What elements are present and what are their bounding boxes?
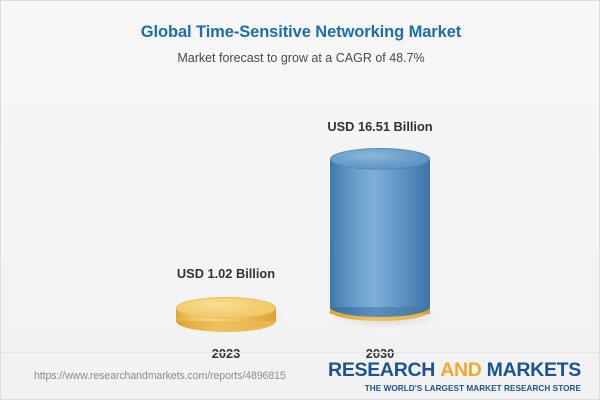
report-url-link[interactable]: https://www.researchandmarkets.com/repor… (34, 370, 286, 382)
logo-tagline: THE WORLD'S LARGEST MARKET RESEARCH STOR… (328, 385, 581, 393)
research-and-markets-logo[interactable]: RESEARCH AND MARKETS THE WORLD'S LARGEST… (328, 361, 581, 393)
logo-word-and: AND (440, 359, 481, 381)
chart-footer: https://www.researchandmarkets.com/repor… (1, 352, 600, 399)
cylinder-top-ellipse-2023 (176, 297, 276, 319)
logo-word-markets: MARKETS (487, 359, 581, 381)
cylinder-top-ellipse-2030 (330, 148, 430, 170)
cylinder-blue-body-2030 (330, 160, 430, 307)
chart-subtitle: Market forecast to grow at a CAGR of 48.… (1, 42, 600, 65)
chart-header: Global Time-Sensitive Networking Market … (1, 1, 600, 65)
page-title: Global Time-Sensitive Networking Market (1, 1, 600, 42)
chart-card: Global Time-Sensitive Networking Market … (0, 0, 600, 400)
bar-cylinder-2023[interactable] (176, 297, 276, 321)
bar-value-label-2023: USD 1.02 Billion (151, 266, 301, 281)
bar-value-label-2030: USD 16.51 Billion (305, 119, 455, 134)
logo-word-research: RESEARCH (328, 359, 435, 381)
chart-plot-area: USD 1.02 Billion 2023 USD 16.51 Billion … (1, 89, 600, 339)
bar-cylinder-2030[interactable] (330, 149, 430, 321)
logo-wordmark: RESEARCH AND MARKETS (328, 361, 581, 381)
